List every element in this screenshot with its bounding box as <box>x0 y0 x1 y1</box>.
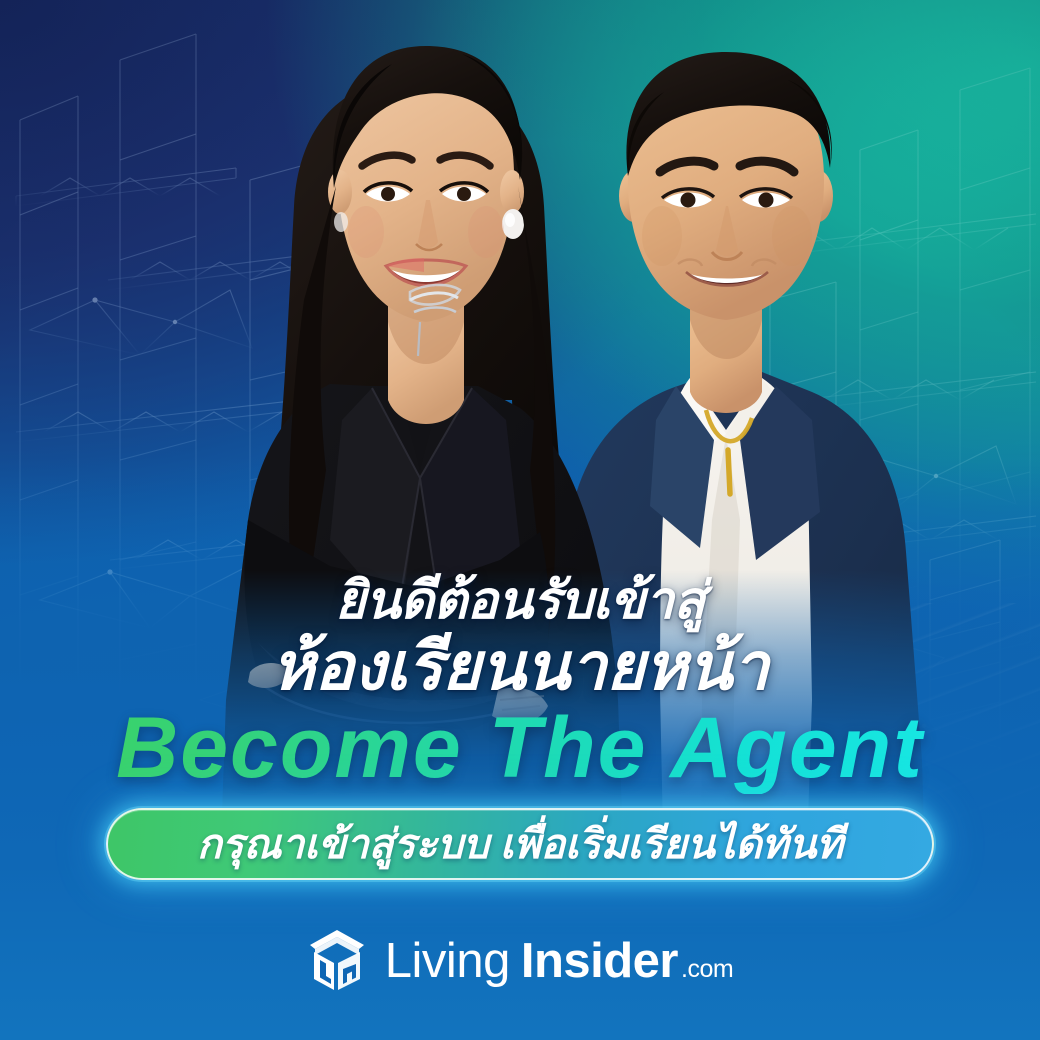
brand-wordmark: Living Insider .com <box>385 937 733 986</box>
brand-logo[interactable]: Living Insider .com <box>0 928 1040 994</box>
brand-word-dotcom: .com <box>681 957 733 982</box>
brand-word-living: Living <box>385 937 510 986</box>
house-logo-icon <box>307 928 367 994</box>
headline-block: ยินดีต้อนรับเข้าสู่ ห้องเรียนนายหน้า Bec… <box>0 575 1040 880</box>
promo-banner: ยินดีต้อนรับเข้าสู่ ห้องเรียนนายหน้า Bec… <box>0 0 1040 1040</box>
login-cta-button[interactable]: กรุณาเข้าสู่ระบบ เพื่อเริ่มเรียนได้ทันที <box>106 808 934 880</box>
brand-word-insider: Insider <box>521 937 678 986</box>
welcome-line-1: ยินดีต้อนรับเข้าสู่ <box>0 575 1040 627</box>
login-cta-label: กรุณาเข้าสู่ระบบ เพื่อเริ่มเรียนได้ทันที <box>197 812 843 877</box>
main-headline: Become The Agent <box>0 703 1040 794</box>
welcome-line-2: ห้องเรียนนายหน้า <box>0 633 1040 699</box>
